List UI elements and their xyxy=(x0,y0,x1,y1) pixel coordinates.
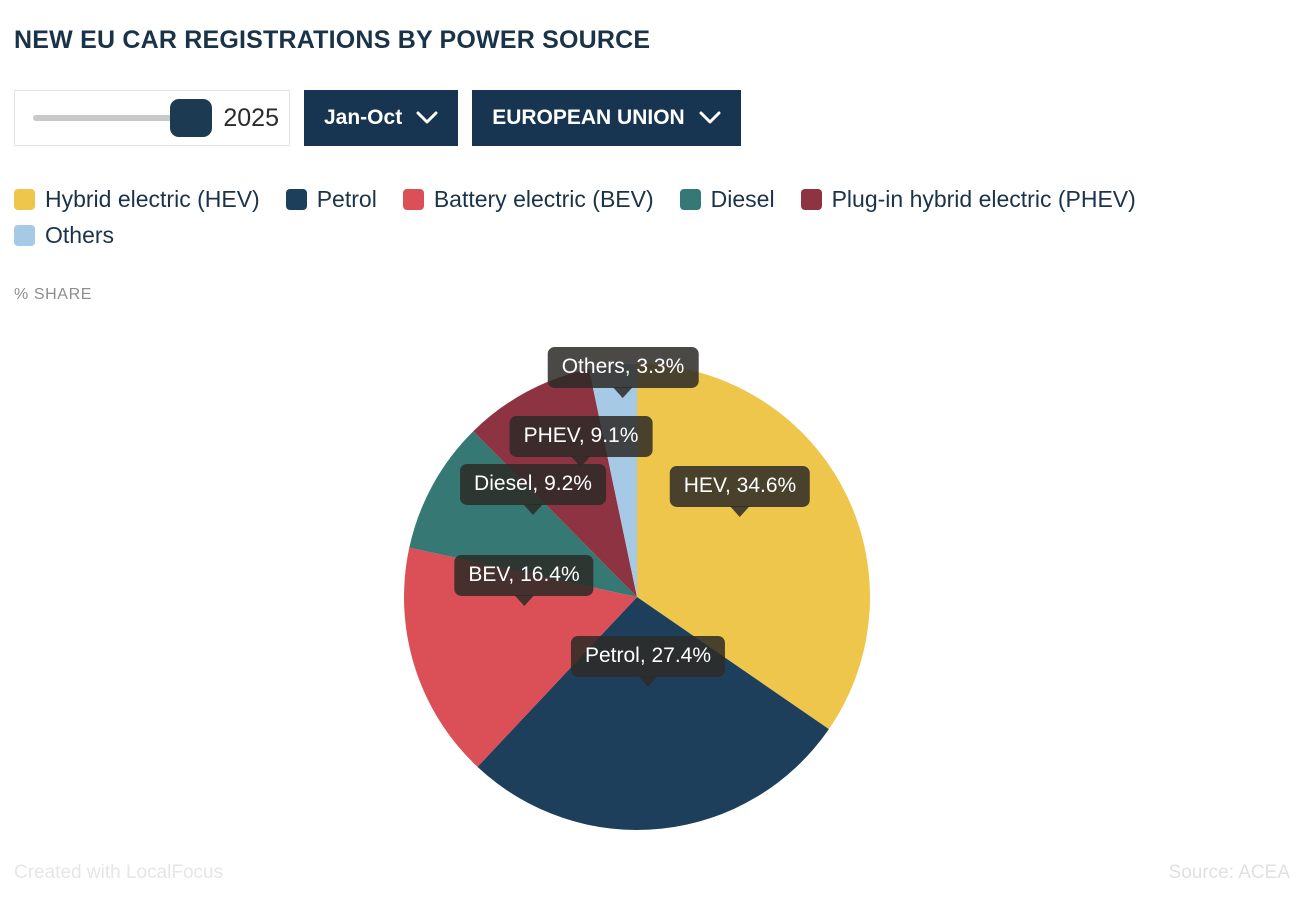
value-axis-caption: % SHARE xyxy=(14,286,92,304)
pie-chart-svg xyxy=(0,318,1304,838)
legend-item[interactable]: Battery electric (BEV) xyxy=(403,186,654,213)
legend-item-label: Diesel xyxy=(711,186,775,213)
year-slider-value: 2025 xyxy=(223,104,279,133)
legend-swatch xyxy=(801,189,822,210)
legend-item-label: Hybrid electric (HEV) xyxy=(45,186,260,213)
credit-text: Created with LocalFocus xyxy=(14,862,223,884)
legend-item[interactable]: Others xyxy=(14,222,114,249)
legend-item[interactable]: Petrol xyxy=(286,186,377,213)
year-slider-handle[interactable] xyxy=(170,99,212,137)
period-dropdown[interactable]: Jan-Oct xyxy=(304,90,458,146)
region-dropdown-label: EUROPEAN UNION xyxy=(492,106,685,130)
legend-item-label: Petrol xyxy=(317,186,377,213)
legend-swatch xyxy=(286,189,307,210)
chevron-down-icon xyxy=(699,111,721,125)
year-slider[interactable]: 2025 xyxy=(14,90,290,146)
legend-swatch xyxy=(14,225,35,246)
legend-item[interactable]: Diesel xyxy=(680,186,775,213)
pie-chart: HEV, 34.6%Petrol, 27.4%BEV, 16.4%Diesel,… xyxy=(0,318,1304,838)
legend-item-label: Battery electric (BEV) xyxy=(434,186,654,213)
legend-swatch xyxy=(14,189,35,210)
legend-swatch xyxy=(403,189,424,210)
legend-item-label: Plug-in hybrid electric (PHEV) xyxy=(832,186,1136,213)
legend-item-label: Others xyxy=(45,222,114,249)
chevron-down-icon xyxy=(416,111,438,125)
legend-swatch xyxy=(680,189,701,210)
year-slider-track-wrap[interactable] xyxy=(23,98,209,138)
chart-legend: Hybrid electric (HEV)PetrolBattery elect… xyxy=(14,186,1254,249)
legend-item[interactable]: Plug-in hybrid electric (PHEV) xyxy=(801,186,1136,213)
legend-item[interactable]: Hybrid electric (HEV) xyxy=(14,186,260,213)
source-text: Source: ACEA xyxy=(1169,862,1290,884)
period-dropdown-label: Jan-Oct xyxy=(324,106,402,130)
page-title: NEW EU CAR REGISTRATIONS BY POWER SOURCE xyxy=(14,26,650,55)
region-dropdown[interactable]: EUROPEAN UNION xyxy=(472,90,741,146)
controls-bar: 2025 Jan-Oct EUROPEAN UNION xyxy=(14,90,741,146)
